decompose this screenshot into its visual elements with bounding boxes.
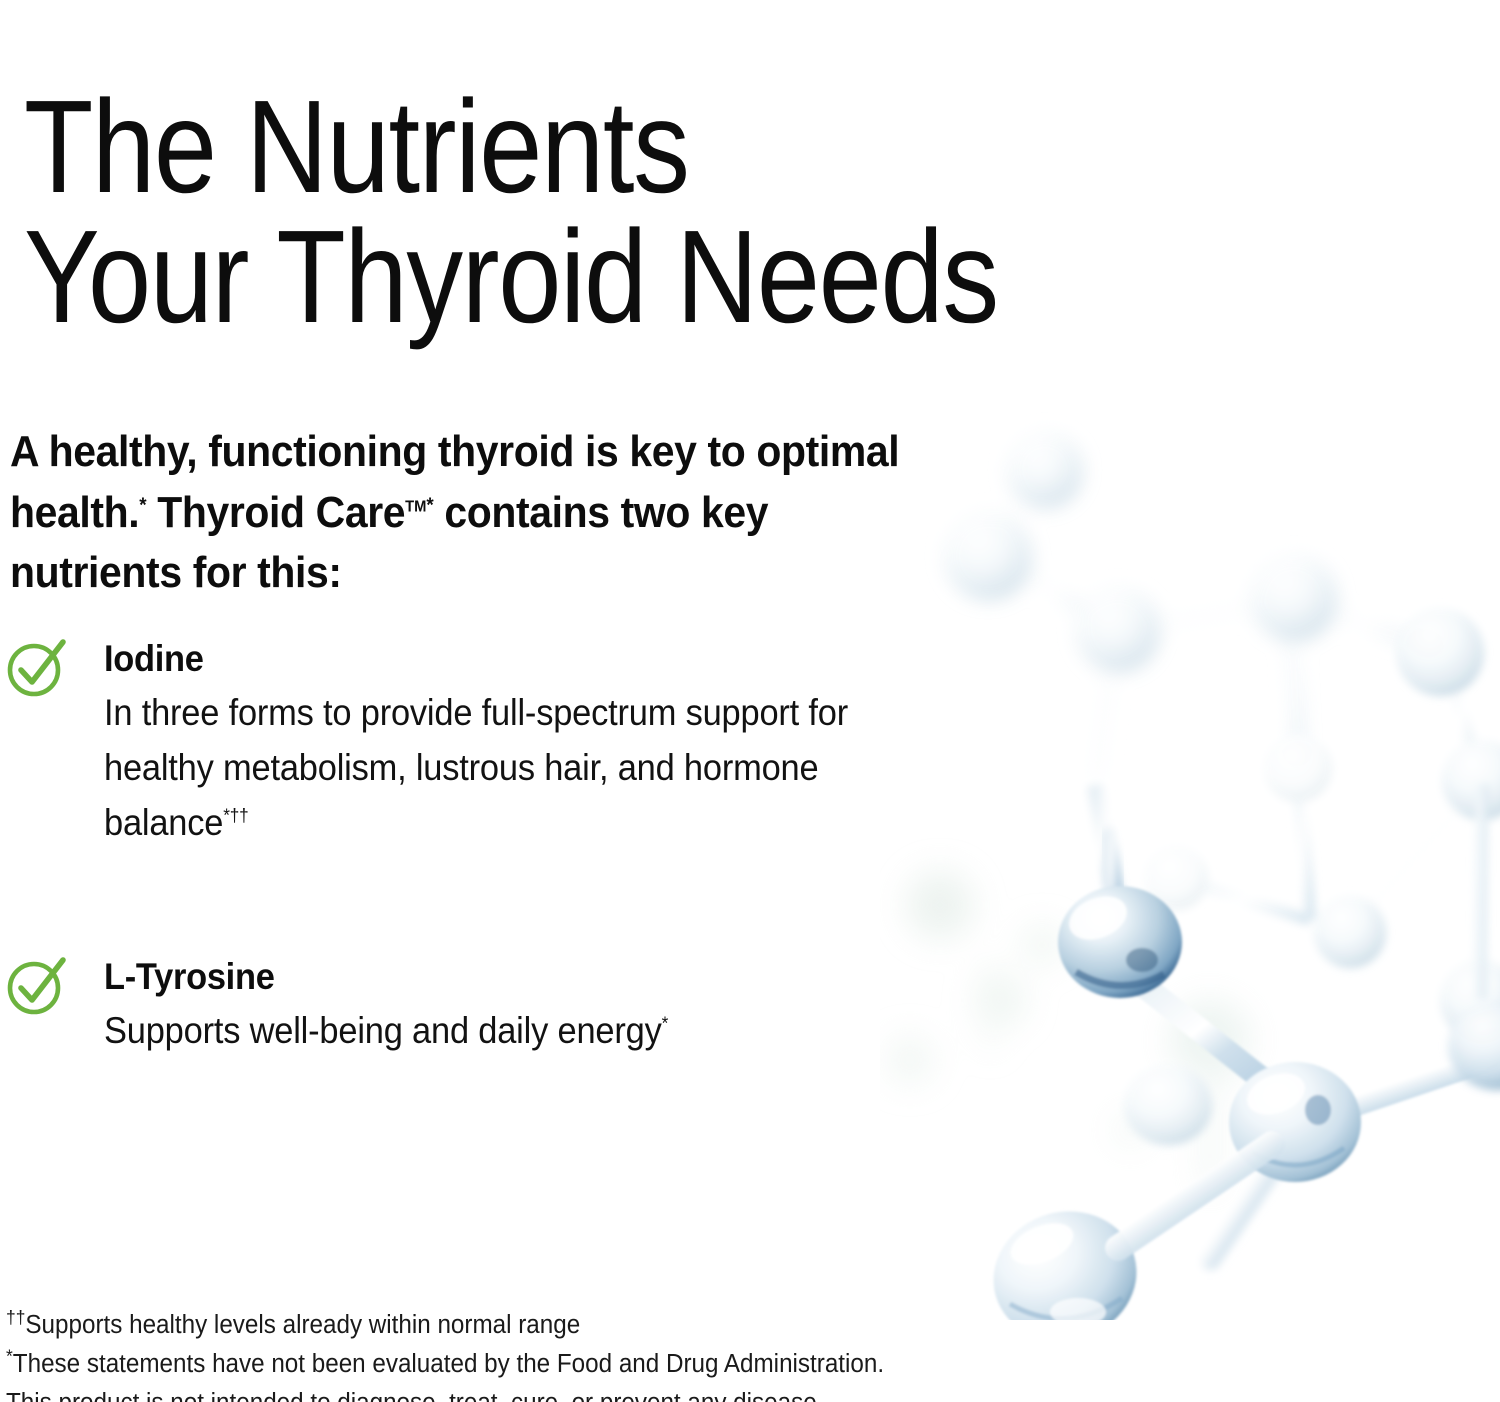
molecule-sphere-bottom [978,1195,1152,1320]
check-circle-icon [4,636,68,700]
benefit-title: Iodine [104,638,904,680]
benefit-footnote-mark: * [662,1013,669,1034]
trademark-mark: TM [405,498,426,515]
benefit-description-text: Supports well-being and daily energy [104,1010,662,1051]
molecule-sphere-primary [1058,886,1182,998]
footnote-text: These statements have not been evaluated… [13,1350,884,1378]
footnote-line: ††Supports healthy levels already within… [6,1306,1051,1345]
footnotes: ††Supports healthy levels already within… [6,1306,1051,1402]
benefit-item-l-tyrosine: L-Tyrosine Supports well-being and daily… [4,952,964,1059]
benefit-description: In three forms to provide full-spectrum … [104,686,904,850]
molecule-near-layer [978,785,1500,1320]
footnote-line: This product is not intended to diagnose… [6,1384,1051,1402]
molecule-sphere-secondary [1229,1062,1361,1182]
benefit-description-text: In three forms to provide full-spectrum … [104,692,848,843]
subtitle-part-2: Thyroid Care [146,488,405,537]
benefit-footnote-mark: *†† [223,804,248,825]
molecule-mid-layer [1144,608,1500,1040]
molecule-far-layer [944,432,1440,780]
subtitle: A healthy, functioning thyroid is key to… [10,422,903,604]
benefit-description: Supports well-being and daily energy* [104,1004,668,1059]
footnote-text: This product is not intended to diagnose… [6,1389,823,1402]
benefit-item-iodine: Iodine In three forms to provide full-sp… [4,634,964,850]
benefit-title: L-Tyrosine [104,956,668,998]
footnote-line: *These statements have not been evaluate… [6,1345,1051,1384]
product-infographic-page: The Nutrients Your Thyroid Needs A healt… [0,0,1500,1402]
check-circle-icon [4,954,68,1018]
footnote-text: Supports healthy levels already within n… [25,1311,580,1339]
footnote-mark: †† [6,1307,25,1328]
molecule-illustration [880,360,1500,1320]
page-title: The Nutrients Your Thyroid Needs [24,82,1228,341]
